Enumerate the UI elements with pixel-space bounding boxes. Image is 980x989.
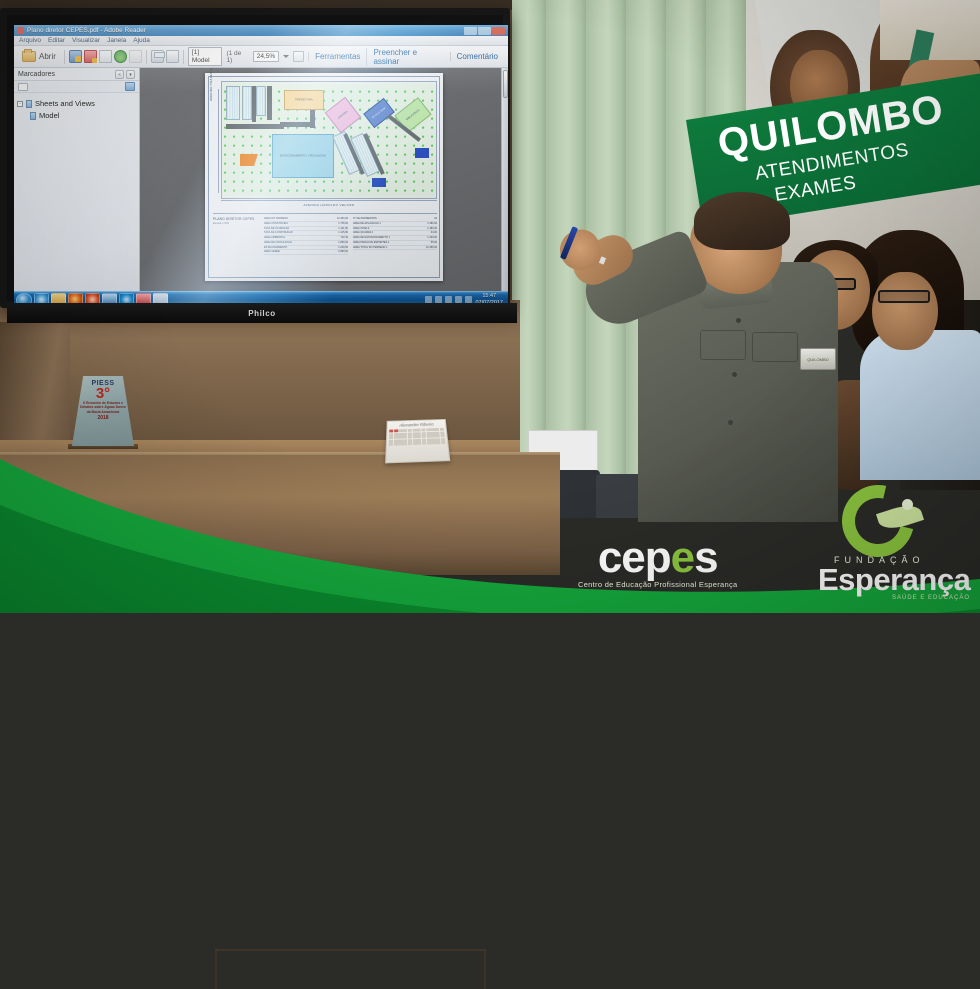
window-controls[interactable] <box>464 27 505 35</box>
legend-label: AREA CONSTRUIDA <box>264 222 288 226</box>
legend-value: 02 <box>434 217 437 221</box>
drawing-title-block: PLANO DIRETOR CEPES Escala 1:500 <box>213 217 259 276</box>
legend-value: 1.415,80 <box>338 231 348 235</box>
bookmarks-panel-buttons[interactable]: « ▾ <box>115 70 135 79</box>
plan-road-4 <box>280 122 314 127</box>
bookmark-node-sheets-and-views[interactable]: - Sheets and Views <box>17 99 136 108</box>
zoom-level-field[interactable]: 24,5% <box>253 51 279 62</box>
network-icon[interactable] <box>435 296 442 303</box>
legend-label: AREA DO TERRENO <box>264 217 288 221</box>
adobe-reader-window: Plano diretor CEPES.pdf - Adobe Reader A… <box>14 25 508 307</box>
legend-label: AREA DE ESTACIONAMENTO 1 <box>353 236 390 240</box>
plan-block-label: CENTRO <box>333 106 354 123</box>
legend-value: 1.121,80 <box>338 227 348 231</box>
presenter-hair <box>694 192 790 250</box>
table-panel-seam <box>215 949 485 951</box>
copy-icon <box>129 50 142 63</box>
legend-label: AREA TOTAL DO TERRENO 1 <box>353 246 387 250</box>
legend-value: 1.890,00 <box>338 241 348 245</box>
volume-icon[interactable] <box>465 296 472 303</box>
toolbar-right-tabs[interactable]: Ferramentas Preencher e assinar Comentár… <box>308 48 504 66</box>
folder-open-icon <box>22 51 36 62</box>
plan-block-estacionamento: ESTACIONAMENTO / CIRCULACAO <box>272 134 334 178</box>
plan-block-c <box>372 178 386 187</box>
legend-label: N° DE PAVIMENTOS <box>353 217 377 221</box>
tv-screen: Plano diretor CEPES.pdf - Adobe Reader A… <box>14 25 508 307</box>
toolbar-separator-3 <box>183 50 184 64</box>
legend-value: 2.890,00 <box>338 250 348 254</box>
menubar[interactable]: Arquivo Editar Visualizar Janela Ajuda <box>14 36 508 46</box>
action-center-icon[interactable] <box>455 296 462 303</box>
cepes-word-part-a: cep <box>598 533 671 582</box>
tab-ferramentas[interactable]: Ferramentas <box>308 52 366 61</box>
menu-ajuda[interactable]: Ajuda <box>133 37 150 44</box>
legend-label: ESTACIONAMENTO <box>264 246 287 250</box>
trophy-place: 3° <box>78 387 128 401</box>
presenter-shirt-button-3 <box>728 420 733 425</box>
legend-label: AREA VERDE <box>264 250 280 254</box>
site-plan: PREFEITURA CENTRO BLOCO ADM BIBLIOTECA <box>221 81 437 199</box>
bookmarks-toolbar[interactable] <box>14 81 139 93</box>
pdf-export-icon[interactable] <box>84 50 97 63</box>
toolbar-separator-1 <box>64 50 65 64</box>
legend-label: AREA DE APLICACAO 1 <box>353 222 381 226</box>
legend-label: AREA QUADRA 2 <box>353 231 373 235</box>
viewer-scrollbar-thumb[interactable] <box>503 70 508 98</box>
maximize-button[interactable] <box>478 27 491 35</box>
acrobat-app-icon <box>17 27 24 34</box>
pdf-page: AVENIDA TIRADENTES <box>205 73 443 281</box>
toolbar-separator-2 <box>146 50 147 64</box>
table-panel-seam-left <box>215 949 217 989</box>
legend-value: 34,00 <box>431 231 437 235</box>
presenter-shirt-pocket-right <box>752 332 798 362</box>
window-body: Marcadores « ▾ - <box>14 68 508 291</box>
legend-value: 12.450,00 <box>426 246 437 250</box>
drawing-subtitle: Escala 1:500 <box>213 222 259 225</box>
panel-menu-icon[interactable]: ▾ <box>126 70 135 79</box>
open-button-label: Abrir <box>39 52 56 61</box>
tv-brand-label: Philco <box>248 309 276 318</box>
window-titlebar: Plano diretor CEPES.pdf - Adobe Reader <box>14 25 508 36</box>
legend-value: 1.745,60 <box>338 222 348 226</box>
clock-time: 15:47 <box>482 293 496 299</box>
trophy-caption: X Encontro de Estudos e Debates sobre Ág… <box>78 401 128 415</box>
presenter-sleeve-patch: QUILOMBO <box>800 348 836 370</box>
legend-label: TAXA DE OCUPACAO <box>264 227 289 231</box>
bookmark-tree[interactable]: - Sheets and Views Model <box>14 93 139 129</box>
legend-label: AREA AMBIENTAL <box>264 236 285 240</box>
collapse-all-icon[interactable]: « <box>115 70 124 79</box>
drawing-legend: PLANO DIRETOR CEPES Escala 1:500 AREA DO… <box>213 213 437 276</box>
table-panel-seam-right <box>484 949 486 989</box>
plan-block-hatch-2 <box>242 86 252 120</box>
legend-value: 1.230,50 <box>338 246 348 250</box>
cloud-icon[interactable] <box>114 50 127 63</box>
window-title: Plano diretor CEPES.pdf - Adobe Reader <box>27 27 146 34</box>
bookmark-label: Sheets and Views <box>35 99 95 108</box>
legend-value: 55,00 <box>431 241 437 245</box>
cepes-word-part-b: s <box>694 533 717 582</box>
legend-label: AREA DE CIRCULACAO <box>264 241 292 245</box>
street-label-vertical-wrap: AVENIDA TIRADENTES <box>209 89 219 193</box>
legend-value: 1.440,00 <box>427 236 437 240</box>
photo-scene: PIESS 3° X Encontro de Estudos e Debates… <box>0 0 980 613</box>
legend-column-2: N° DE PAVIMENTOS02 AREA DE APLICACAO 11.… <box>353 217 437 276</box>
street-label-vertical: AVENIDA TIRADENTES <box>209 68 213 135</box>
cepes-word-part-o: e <box>671 533 694 582</box>
menu-janela[interactable]: Janela <box>107 37 126 44</box>
bookmarks-panel-header: Marcadores « ▾ <box>14 68 139 81</box>
close-button[interactable] <box>492 27 505 35</box>
plan-road-3 <box>226 124 284 129</box>
esperanca-dot-icon <box>902 499 913 510</box>
plan-block-hatch-1 <box>226 86 240 120</box>
tab-comentario[interactable]: Comentário <box>450 52 504 61</box>
cepes-logo: cepes Centro de Educação Profissional Es… <box>578 538 737 589</box>
legend-value: 12.450,00 <box>337 217 348 221</box>
bookmark-icon <box>26 100 32 108</box>
bookmark-icon <box>30 112 36 120</box>
presenter-shirt-pocket-left <box>700 330 746 360</box>
bookmark-options-icon[interactable] <box>18 83 28 91</box>
toolbar[interactable]: Abrir [1] M <box>14 46 508 68</box>
trophy-year: 2018 <box>78 415 128 421</box>
plan-block-prefeitura: PREFEITURA <box>284 90 324 110</box>
presenter-shirt-button-1 <box>736 318 741 323</box>
tab-preencher-assinar[interactable]: Preencher e assinar <box>366 48 449 66</box>
plan-block-label: PREFEITURA <box>285 99 323 102</box>
print-icon[interactable] <box>151 50 164 63</box>
cepes-wordmark: cepes <box>578 538 737 578</box>
desk-calendar-grid <box>387 426 448 448</box>
legend-label: AREA PRACA DE ESPORTES 1 <box>353 241 389 245</box>
page-count-label: (1 de 1) <box>226 50 248 64</box>
zoom-caret-icon[interactable] <box>283 55 289 58</box>
menu-arquivo[interactable]: Arquivo <box>19 37 41 44</box>
toolbar-group-output[interactable] <box>151 50 179 63</box>
legend-row: AREA TOTAL DO TERRENO 112.450,00 <box>353 246 437 251</box>
legend-value: 1.180,00 <box>427 227 437 231</box>
email-icon[interactable] <box>166 50 179 63</box>
drawing-title: PLANO DIRETOR CEPES <box>213 217 254 221</box>
menu-visualizar[interactable]: Visualizar <box>72 37 100 44</box>
tv-bezel-bottom: Philco <box>7 303 517 323</box>
plan-block-label: ESTACIONAMENTO / CIRCULACAO <box>273 155 333 158</box>
bookmarks-panel-title: Marcadores <box>18 71 55 78</box>
plan-road-1 <box>252 86 256 122</box>
legend-row: AREA VERDE2.890,00 <box>264 250 348 255</box>
edit-icon[interactable] <box>99 50 112 63</box>
attendee-2-glasses <box>878 290 930 303</box>
expander-icon[interactable]: - <box>17 101 23 107</box>
legend-label: AREA ZONA 2 <box>353 227 369 231</box>
minimize-button[interactable] <box>464 27 477 35</box>
menu-editar[interactable]: Editar <box>48 37 65 44</box>
legend-column-1: AREA DO TERRENO12.450,00 AREA CONSTRUIDA… <box>264 217 348 276</box>
legend-label: TAXA DE CONSTRUCAO <box>264 231 293 235</box>
esperanca-logo: FUNDAÇÃO Esperança SAÚDE E EDUCAÇÃO <box>818 485 970 601</box>
attendee-2-face <box>872 272 938 350</box>
bookmark-node-model[interactable]: Model <box>17 111 136 120</box>
open-button[interactable]: Abrir <box>18 50 60 63</box>
plan-block-hatch-3 <box>256 86 266 116</box>
television: Plano diretor CEPES.pdf - Adobe Reader A… <box>0 8 510 308</box>
pdf-viewer[interactable]: AVENIDA TIRADENTES <box>140 68 508 291</box>
plan-block-b <box>415 148 429 158</box>
language-bar-icon[interactable] <box>425 296 432 303</box>
plan-road-2 <box>267 86 272 120</box>
street-label-horizontal: AVENIDA HAROLDO VELOSO <box>221 203 437 207</box>
presenter-shirt-button-2 <box>732 372 737 377</box>
new-bookmark-icon[interactable] <box>125 82 135 91</box>
toolbar-group-file[interactable] <box>69 50 142 63</box>
viewer-scrollbar[interactable] <box>501 68 508 291</box>
page-mode-field[interactable]: [1] Model <box>188 47 223 65</box>
plan-block-label: BIBLIOTECA <box>401 105 425 125</box>
fit-page-icon[interactable] <box>293 51 304 62</box>
bookmark-label: Model <box>39 111 59 120</box>
esperanca-wordmark: Esperança <box>818 565 970 594</box>
legend-value: 1.180,00 <box>427 222 437 226</box>
legend-value: 722,40 <box>340 236 348 240</box>
bookmarks-sidebar: Marcadores « ▾ - <box>14 68 140 291</box>
show-hidden-icon[interactable] <box>445 296 452 303</box>
esperanca-logo-mark <box>842 485 920 555</box>
save-icon[interactable] <box>69 50 82 63</box>
